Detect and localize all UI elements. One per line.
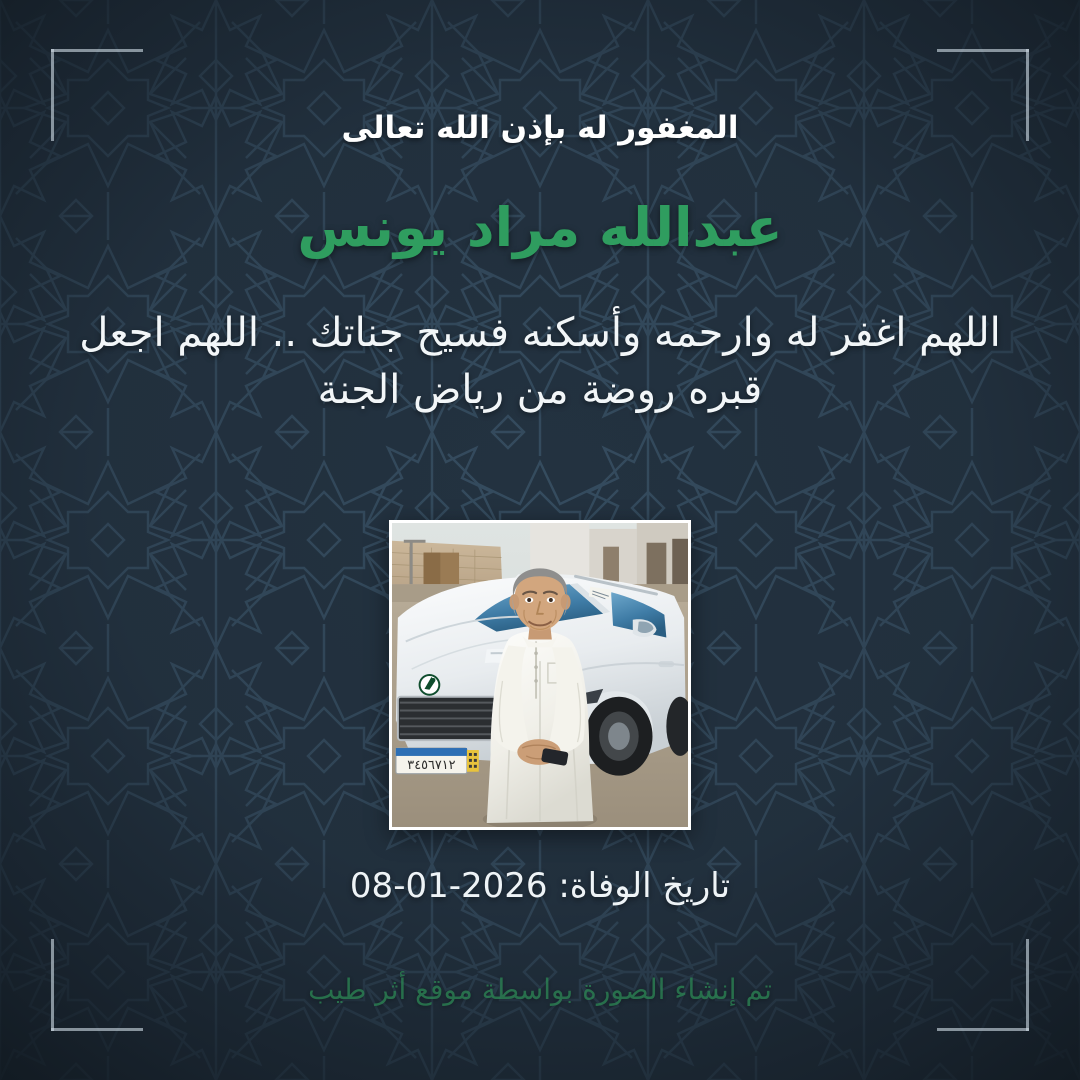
deceased-photo-frame: ٣٤٥٦٧١٢ bbox=[389, 520, 691, 830]
card-content: المغفور له بإذن الله تعالى عبدالله مراد … bbox=[0, 0, 1080, 1080]
deceased-photo: ٣٤٥٦٧١٢ bbox=[392, 523, 688, 827]
footer-credit-text: تم إنشاء الصورة بواسطة موقع أثر طيب bbox=[0, 973, 1080, 1006]
svg-text:٣٤٥٦٧١٢: ٣٤٥٦٧١٢ bbox=[407, 758, 455, 773]
memorial-card: المغفور له بإذن الله تعالى عبدالله مراد … bbox=[0, 0, 1080, 1080]
prayer-text: اللهم اغفر له وارحمه وأسكنه فسيح جناتك .… bbox=[62, 305, 1018, 419]
death-date-text: تاريخ الوفاة: 2026-01-08 bbox=[0, 866, 1080, 906]
headline-text: المغفور له بإذن الله تعالى bbox=[0, 110, 1080, 146]
deceased-name: عبدالله مراد يونس bbox=[0, 196, 1080, 261]
